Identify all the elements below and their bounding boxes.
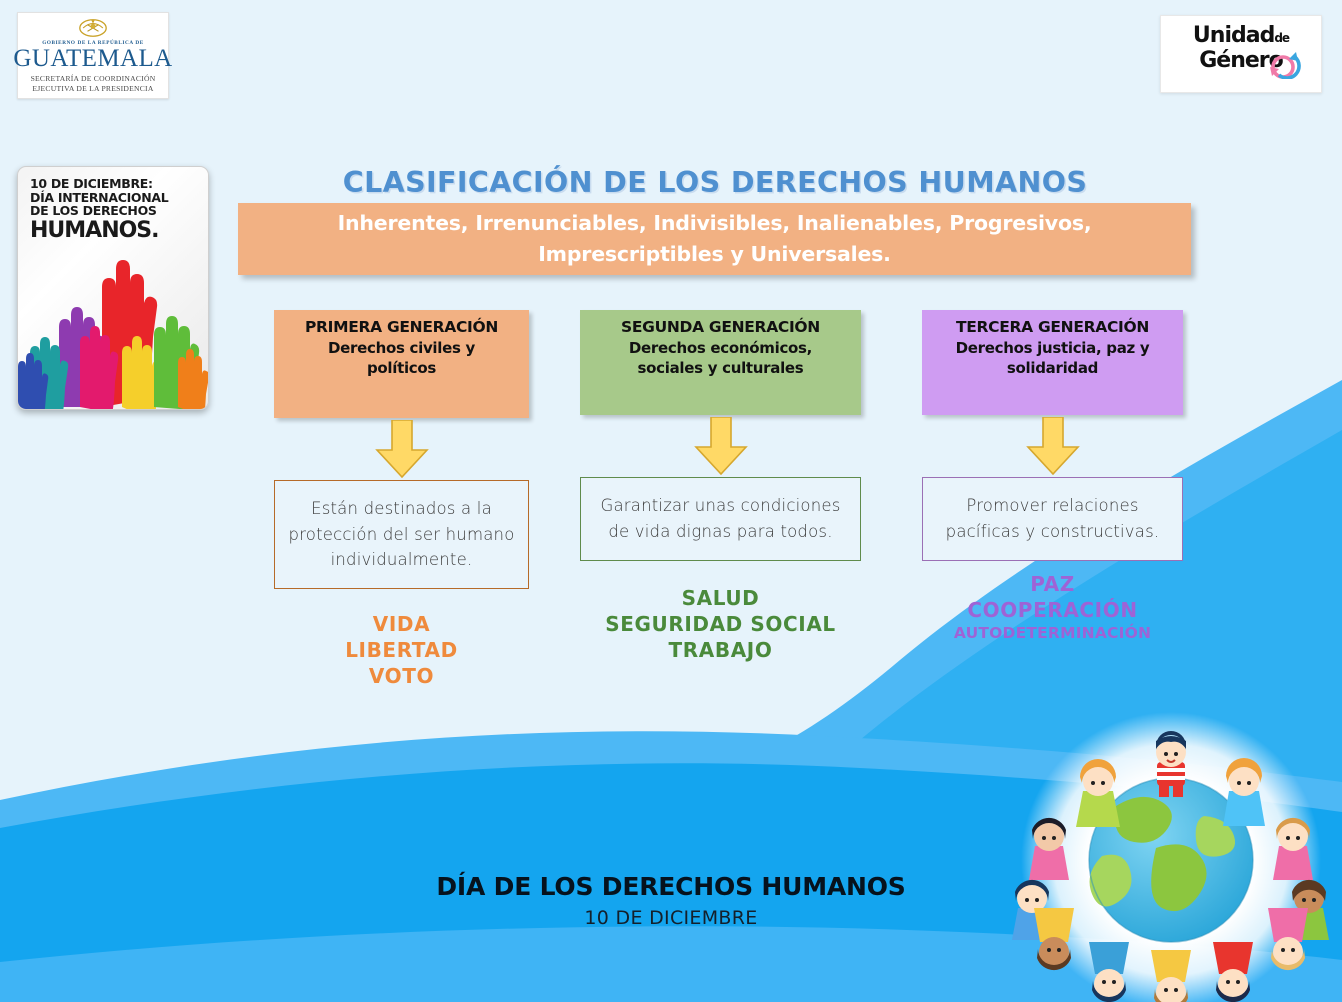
generation-name-3: TERCERA GENERACIÓN (928, 318, 1177, 338)
raised-hands-illustration (18, 167, 208, 409)
gender-logo-de: de (1274, 31, 1289, 45)
keyword-item: SALUD (580, 585, 861, 611)
footer-caption: DÍA DE LOS DERECHOS HUMANOS 10 DE DICIEM… (0, 872, 1342, 929)
down-arrow-icon (1023, 417, 1083, 475)
generation-subtitle-1-line2: políticos (280, 359, 523, 379)
generation-header-2: SEGUNDA GENERACIÓN Derechos económicos, … (580, 310, 861, 415)
generation-subtitle-2-line1: Derechos económicos, (586, 339, 855, 359)
footer-subtitle: 10 DE DICIEMBRE (0, 907, 1342, 929)
infographic-canvas: GOBIERNO DE LA REPÚBLICA DE GUATEMALA SE… (0, 0, 1342, 1002)
generation-subtitle-2-line2: sociales y culturales (586, 359, 855, 379)
keyword-item: VIDA (274, 611, 529, 637)
generation-header-1: PRIMERA GENERACIÓN Derechos civiles y po… (274, 310, 529, 418)
gender-unit-logo: Unidadde Género (1160, 15, 1322, 93)
generation-header-3: TERCERA GENERACIÓN Derechos justicia, pa… (922, 310, 1183, 415)
generation-subtitle-3-line2: solidaridad (928, 359, 1177, 379)
page-title: CLASIFICACIÓN DE LOS DERECHOS HUMANOS (230, 166, 1200, 199)
human-rights-day-poster: 10 DE DICIEMBRE: DÍA INTERNACIONAL DE LO… (17, 166, 209, 410)
generation-column-3: TERCERA GENERACIÓN Derechos justicia, pa… (922, 310, 1183, 643)
down-arrow-icon (691, 417, 751, 475)
generation-keywords-2: SALUD SEGURIDAD SOCIAL TRABAJO (580, 585, 861, 663)
gender-symbol-icon (1267, 49, 1301, 79)
keyword-item: TRABAJO (580, 637, 861, 663)
generation-detail-2: Garantizar unas condiciones de vida dign… (580, 477, 861, 561)
generation-detail-1: Están destinados a la protección del ser… (274, 480, 529, 589)
keyword-item: LIBERTAD (274, 637, 529, 663)
attributes-banner-text: Inherentes, Irrenunciables, Indivisibles… (338, 208, 1092, 270)
gender-logo-unidad: Unidad (1193, 23, 1274, 48)
generation-keywords-1: VIDA LIBERTAD VOTO (274, 611, 529, 689)
generation-name-1: PRIMERA GENERACIÓN (280, 318, 523, 338)
keyword-item: AUTODETERMINACIÓN (922, 623, 1183, 643)
generation-name-2: SEGUNDA GENERACIÓN (586, 318, 855, 338)
guatemala-crest-icon (76, 17, 110, 39)
generation-column-2: SEGUNDA GENERACIÓN Derechos económicos, … (580, 310, 861, 663)
arrow-wrap-2 (580, 415, 861, 477)
keyword-item: PAZ (922, 571, 1183, 597)
gender-logo-line1: Unidadde (1161, 25, 1321, 47)
keyword-item: SEGURIDAD SOCIAL (580, 611, 861, 637)
government-logo: GOBIERNO DE LA REPÚBLICA DE GUATEMALA SE… (17, 12, 169, 99)
attributes-banner: Inherentes, Irrenunciables, Indivisibles… (238, 203, 1191, 275)
attributes-banner-line1: Inherentes, Irrenunciables, Indivisibles… (338, 208, 1092, 239)
hand-group (18, 260, 208, 409)
attributes-banner-line2: Imprescriptibles y Universales. (338, 239, 1092, 270)
generation-subtitle-3-line1: Derechos justicia, paz y (928, 339, 1177, 359)
generation-column-1: PRIMERA GENERACIÓN Derechos civiles y po… (274, 310, 529, 689)
children-around-globe-illustration (1006, 708, 1336, 1002)
down-arrow-icon (372, 420, 432, 478)
gov-logo-office-line1: SECRETARÍA DE COORDINACIÓN (31, 74, 156, 84)
gov-logo-country: GUATEMALA (13, 46, 172, 71)
gov-logo-office-line2: EJECUTIVA DE LA PRESIDENCIA (32, 84, 153, 94)
generation-subtitle-1-line1: Derechos civiles y (280, 339, 523, 359)
arrow-wrap-3 (922, 415, 1183, 477)
arrow-wrap-1 (274, 418, 529, 480)
generation-detail-3: Promover relaciones pacíficas y construc… (922, 477, 1183, 561)
footer-title: DÍA DE LOS DERECHOS HUMANOS (0, 872, 1342, 901)
keyword-item: COOPERACIÓN (922, 597, 1183, 623)
keyword-item: VOTO (274, 663, 529, 689)
generation-keywords-3: PAZ COOPERACIÓN AUTODETERMINACIÓN (922, 571, 1183, 643)
